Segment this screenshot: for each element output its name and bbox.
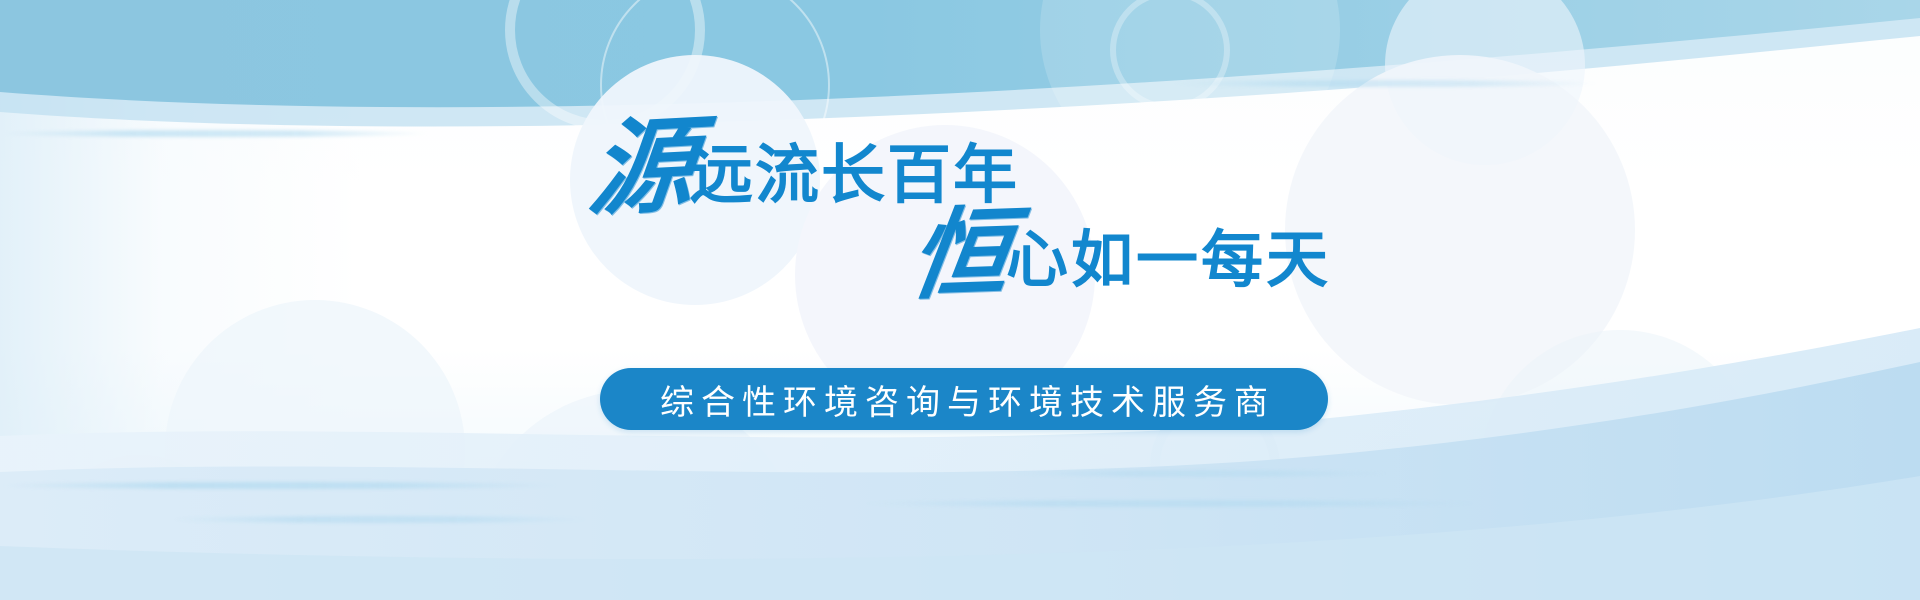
headline-line-1-brush-character: 源 <box>585 121 695 215</box>
banner-content: 源 远流长百年 恒 心如一每天 综合性环境咨询与环境技术服务商 <box>0 0 1920 600</box>
headline-line-2-text: 心如一每天 <box>1006 230 1331 298</box>
headline-line-2: 恒 心如一每天 <box>905 215 1331 298</box>
tagline-label: 综合性环境咨询与环境技术服务商 <box>653 375 1275 424</box>
hero-banner: 源 远流长百年 恒 心如一每天 综合性环境咨询与环境技术服务商 <box>0 0 1920 600</box>
headline-line-2-brush-character: 恒 <box>905 212 1012 299</box>
tagline-pill: 综合性环境咨询与环境技术服务商 <box>600 368 1328 430</box>
